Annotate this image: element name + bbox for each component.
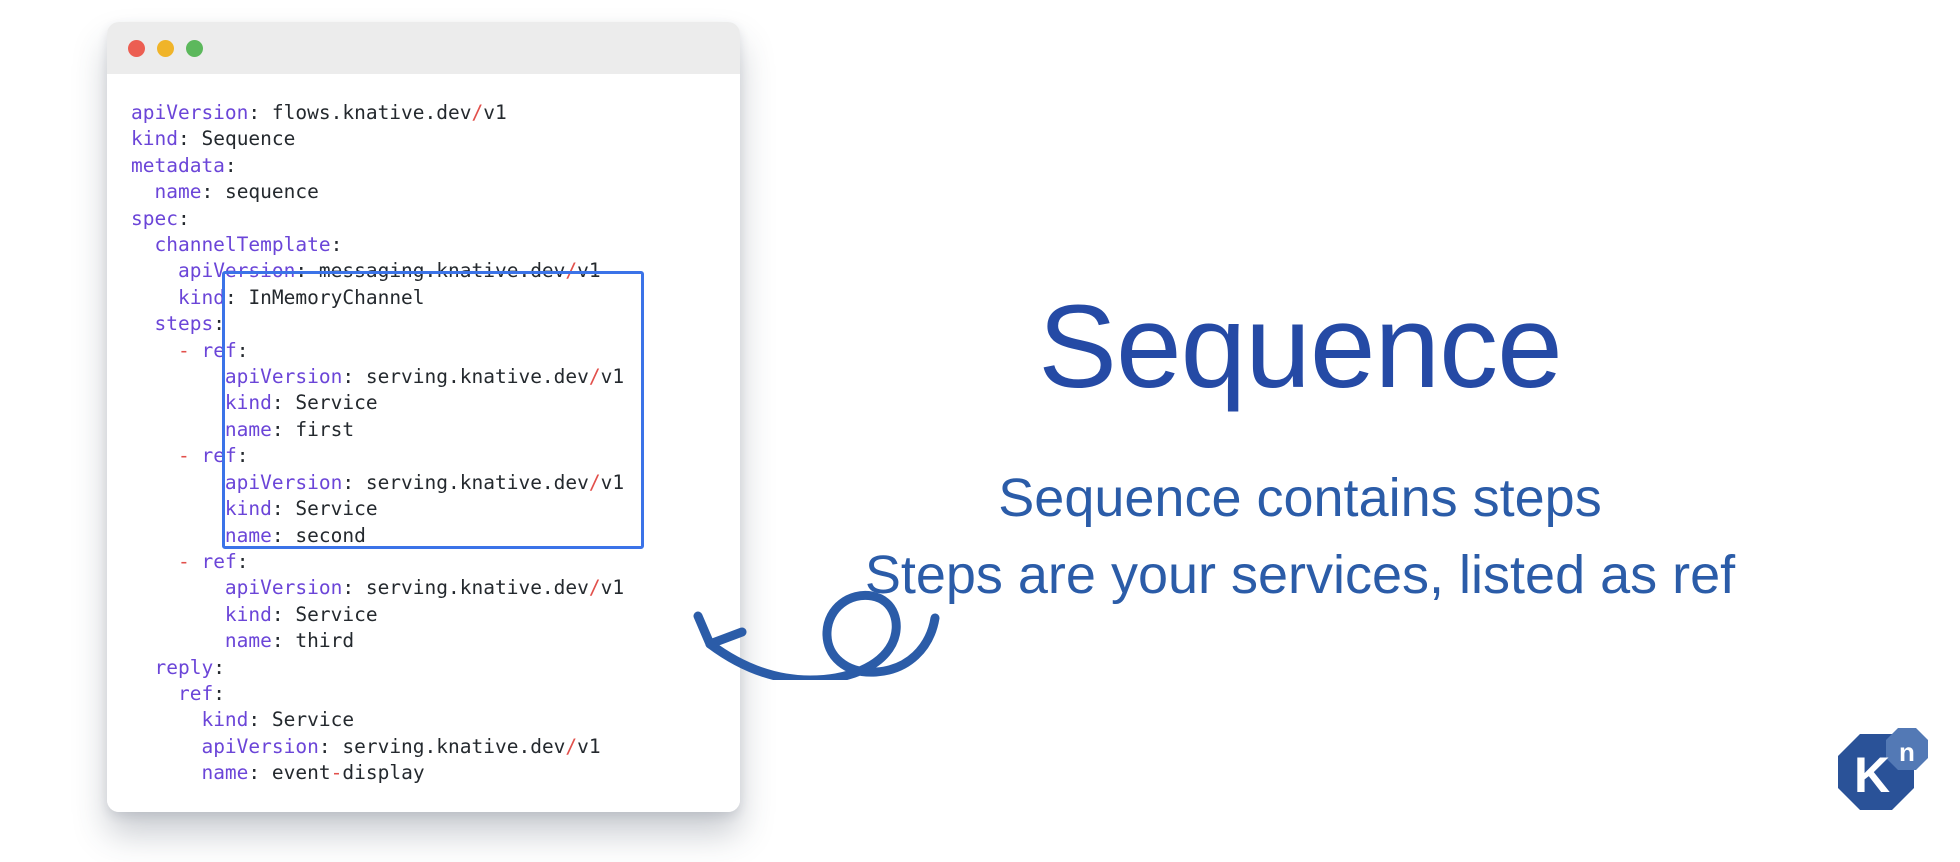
- text-panel: Sequence Sequence contains steps Steps a…: [760, 0, 1960, 862]
- logo-secondary-letter: n: [1899, 737, 1915, 767]
- curved-arrow-icon: [680, 570, 940, 680]
- minimize-icon[interactable]: [157, 40, 174, 57]
- code-window: apiVersion: flows.knative.dev/v1 kind: S…: [107, 22, 740, 812]
- slide-canvas: apiVersion: flows.knative.dev/v1 kind: S…: [0, 0, 1960, 862]
- window-titlebar: [107, 22, 740, 74]
- page-title: Sequence: [760, 288, 1840, 406]
- knative-logo: K n: [1816, 724, 1932, 840]
- subtitle-line-1: Sequence contains steps: [760, 468, 1840, 528]
- maximize-icon[interactable]: [186, 40, 203, 57]
- code-editor-body[interactable]: apiVersion: flows.knative.dev/v1 kind: S…: [107, 74, 740, 812]
- window-controls: [128, 40, 203, 57]
- yaml-code-block[interactable]: apiVersion: flows.knative.dev/v1 kind: S…: [131, 100, 624, 787]
- logo-primary-letter: K: [1854, 747, 1890, 803]
- close-icon[interactable]: [128, 40, 145, 57]
